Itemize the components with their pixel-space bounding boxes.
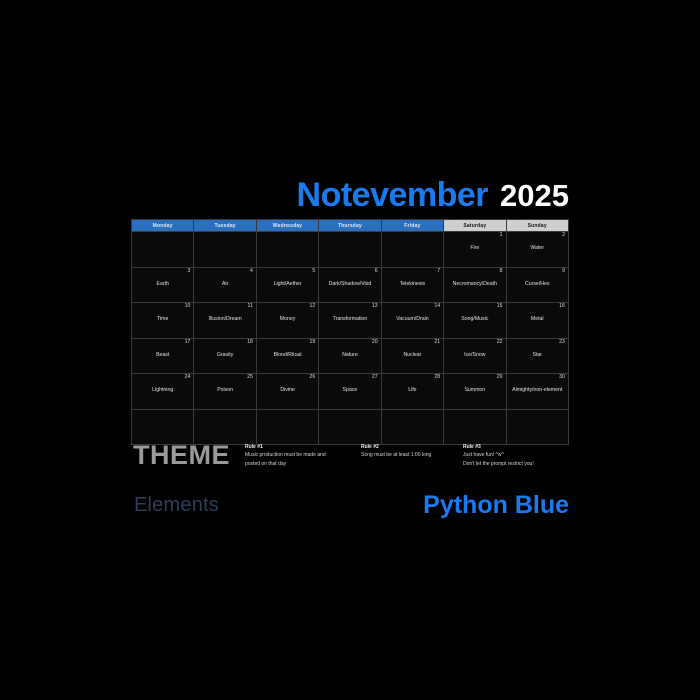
rule-title: Rule #2 [361, 444, 476, 451]
day-prompt: Illusion/Dream [197, 316, 252, 323]
theme-heading: THEME [133, 441, 230, 471]
rule-title: Rule #1 [245, 444, 350, 451]
calendar-day-cell[interactable]: 18Gravity [194, 339, 256, 375]
calendar-day-cell[interactable] [507, 410, 569, 446]
day-number: 8 [500, 269, 503, 274]
day-prompt: Blood/Ritual [260, 352, 315, 359]
day-prompt: Nuclear [385, 352, 440, 359]
rule-text-line-2: Don't let the prompt restrict you! [463, 461, 573, 469]
day-header-monday: Monday [132, 220, 194, 232]
day-prompt: Light/Aether [260, 281, 315, 288]
calendar-week-row: 1Fire 2Water [132, 232, 569, 268]
day-prompt: Earth [135, 281, 190, 288]
calendar-week-row: 24Lightning 25Poison 26Divine 27Space 28… [132, 374, 569, 410]
day-number: 22 [497, 340, 503, 345]
day-number: 27 [372, 375, 378, 380]
calendar-day-cell[interactable]: 20Nature [319, 339, 381, 375]
day-number: 29 [497, 375, 503, 380]
calendar-day-cell[interactable]: 23Star [507, 339, 569, 375]
day-prompt: Metal [510, 316, 565, 323]
day-number: 26 [309, 375, 315, 380]
rule-text-line-2: posted on that day [245, 461, 350, 469]
day-number: 21 [434, 340, 440, 345]
day-prompt: Divine [260, 387, 315, 394]
day-prompt: Beast [135, 352, 190, 359]
page-year: 2025 [500, 180, 569, 212]
day-number: 9 [562, 269, 565, 274]
calendar-day-cell[interactable]: 9Curse/Hex [507, 268, 569, 304]
calendar-day-cell[interactable]: 6Dark/Shadow/Void [319, 268, 381, 304]
calendar-day-cell[interactable]: 24Lightning [132, 374, 194, 410]
calendar-day-cell[interactable] [257, 232, 319, 268]
day-number: 18 [247, 340, 253, 345]
day-header-tuesday: Tuesday [194, 220, 256, 232]
day-number: 12 [309, 304, 315, 309]
calendar-header-row: Monday Tuesday Wednesday Thursday Friday… [132, 220, 569, 232]
rule-text-line-1: Just have fun! ^w^ [463, 452, 573, 460]
day-header-friday: Friday [382, 220, 444, 232]
day-number: 17 [185, 340, 191, 345]
calendar-day-cell[interactable]: 15Song/Music [444, 303, 506, 339]
day-prompt: Curse/Hex [510, 281, 565, 288]
calendar-day-cell[interactable] [194, 232, 256, 268]
calendar-week-row: 3Earth 4Air 5Light/Aether 6Dark/Shadow/V… [132, 268, 569, 304]
day-number: 16 [559, 304, 565, 309]
day-prompt: Summon [447, 387, 502, 394]
calendar-day-cell[interactable] [382, 232, 444, 268]
calendar-day-cell[interactable] [257, 410, 319, 446]
calendar-day-cell[interactable]: 7Telekinesis [382, 268, 444, 304]
author-name: Python Blue [423, 493, 569, 518]
day-number: 10 [185, 304, 191, 309]
day-number: 20 [372, 340, 378, 345]
calendar-day-cell[interactable]: 12Money [257, 303, 319, 339]
calendar-day-cell[interactable]: 1Fire [444, 232, 506, 268]
calendar-day-cell[interactable]: 30Almighty/non-element [507, 374, 569, 410]
day-prompt: Money [260, 316, 315, 323]
calendar-week-row: 17Beast 18Gravity 19Blood/Ritual 20Natur… [132, 339, 569, 375]
day-prompt: Fire [447, 245, 502, 252]
calendar-day-cell[interactable]: 8Necromancy/Death [444, 268, 506, 304]
calendar-day-cell[interactable]: 25Poison [194, 374, 256, 410]
day-number: 6 [375, 269, 378, 274]
day-number: 30 [559, 375, 565, 380]
calendar-day-cell[interactable]: 28Life [382, 374, 444, 410]
calendar-day-cell[interactable] [444, 410, 506, 446]
day-number: 14 [434, 304, 440, 309]
calendar-day-cell[interactable] [382, 410, 444, 446]
rule-block-2: Rule #2 Song must be at least 1:00 long [361, 444, 476, 461]
calendar-day-cell[interactable]: 4Air [194, 268, 256, 304]
theme-and-rules-band: THEME Rule #1 Music production must be m… [131, 441, 569, 481]
calendar-grid: Monday Tuesday Wednesday Thursday Friday… [131, 219, 569, 445]
calendar-day-cell[interactable]: 22Ice/Snow [444, 339, 506, 375]
calendar-day-cell[interactable] [132, 232, 194, 268]
day-number: 13 [372, 304, 378, 309]
calendar-day-cell[interactable]: 27Space [319, 374, 381, 410]
day-prompt: Nature [322, 352, 377, 359]
rule-title: Rule #3 [463, 444, 573, 451]
day-header-wednesday: Wednesday [257, 220, 319, 232]
day-header-thursday: Thursday [319, 220, 381, 232]
rule-block-3: Rule #3 Just have fun! ^w^ Don't let the… [463, 444, 573, 468]
day-header-saturday: Saturday [444, 220, 506, 232]
poster-title-row: Notevember 2025 [131, 168, 569, 212]
calendar-day-cell[interactable]: 14Vacuum/Drain [382, 303, 444, 339]
day-prompt: Song/Music [447, 316, 502, 323]
day-prompt: Time [135, 316, 190, 323]
day-number: 11 [247, 304, 252, 309]
calendar-day-cell[interactable]: 11Illusion/Dream [194, 303, 256, 339]
calendar-day-cell[interactable]: 19Blood/Ritual [257, 339, 319, 375]
day-prompt: Almighty/non-element [510, 387, 565, 394]
calendar-day-cell[interactable]: 2Water [507, 232, 569, 268]
day-number: 5 [312, 269, 315, 274]
calendar-day-cell[interactable]: 16Metal [507, 303, 569, 339]
day-number: 25 [247, 375, 253, 380]
calendar-day-cell[interactable]: 5Light/Aether [257, 268, 319, 304]
calendar-day-cell[interactable]: 29Summon [444, 374, 506, 410]
rule-text-line-1: Music production must be made and [245, 452, 350, 460]
calendar-day-cell[interactable]: 3Earth [132, 268, 194, 304]
day-prompt: Star [510, 352, 565, 359]
day-prompt: Transformation [322, 316, 377, 323]
day-prompt: Vacuum/Drain [385, 316, 440, 323]
day-prompt: Poison [197, 387, 252, 394]
day-prompt: Space [322, 387, 377, 394]
day-number: 4 [250, 269, 253, 274]
rule-block-1: Rule #1 Music production must be made an… [245, 444, 350, 468]
day-prompt: Gravity [197, 352, 252, 359]
day-number: 19 [309, 340, 315, 345]
day-header-sunday: Sunday [507, 220, 569, 232]
theme-subject: Elements [131, 495, 219, 515]
calendar-day-cell[interactable] [319, 410, 381, 446]
page-title: Notevember [297, 178, 489, 212]
day-number: 3 [188, 269, 191, 274]
day-number: 23 [559, 340, 565, 345]
day-number: 1 [500, 233, 503, 238]
calendar-day-cell[interactable] [319, 232, 381, 268]
day-number: 28 [434, 375, 440, 380]
day-prompt: Water [510, 245, 565, 252]
day-number: 24 [185, 375, 191, 380]
poster-canvas: Notevember 2025 Monday Tuesday Wednesday… [0, 0, 700, 700]
calendar-day-cell[interactable]: 21Nuclear [382, 339, 444, 375]
day-prompt: Air [197, 281, 252, 288]
calendar-day-cell[interactable]: 17Beast [132, 339, 194, 375]
footer-row: Elements Python Blue [131, 488, 569, 522]
day-prompt: Necromancy/Death [447, 281, 502, 288]
day-prompt: Life [385, 387, 440, 394]
day-prompt: Lightning [135, 387, 190, 394]
day-prompt: Ice/Snow [447, 352, 502, 359]
day-prompt: Telekinesis [385, 281, 440, 288]
day-prompt: Dark/Shadow/Void [322, 281, 377, 288]
calendar-day-cell[interactable]: 10Time [132, 303, 194, 339]
calendar-week-row: 10Time 11Illusion/Dream 12Money 13Transf… [132, 303, 569, 339]
day-number: 7 [437, 269, 440, 274]
day-number: 15 [497, 304, 503, 309]
rule-text-line-1: Song must be at least 1:00 long [361, 452, 476, 460]
day-number: 2 [562, 233, 565, 238]
calendar-day-cell[interactable]: 13Transformation [319, 303, 381, 339]
calendar-day-cell[interactable]: 26Divine [257, 374, 319, 410]
